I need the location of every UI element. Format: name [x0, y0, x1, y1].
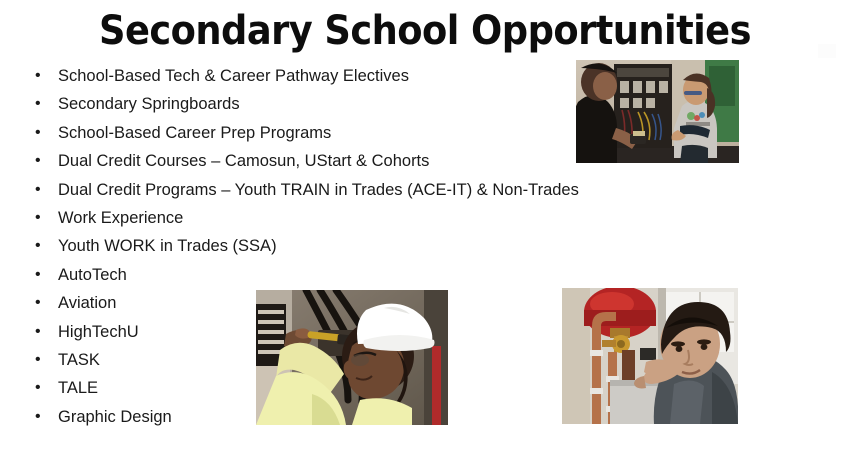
list-item-label: School-Based Career Prep Programs: [58, 119, 331, 147]
list-item: • School-Based Tech & Career Pathway Ele…: [30, 62, 610, 90]
photo-plumbing: [562, 288, 738, 424]
photo-electrician: [256, 290, 448, 425]
bullet-marker-icon: •: [35, 90, 41, 118]
list-item-label: Graphic Design: [58, 403, 172, 431]
bullet-marker-icon: •: [35, 147, 41, 175]
bullet-marker-icon: •: [35, 346, 41, 374]
list-item-label: Dual Credit Courses – Camosun, UStart & …: [58, 147, 429, 175]
list-item: • Secondary Springboards: [30, 90, 610, 118]
list-item: • Work Experience: [30, 204, 610, 232]
list-item: • Dual Credit Programs – Youth TRAIN in …: [30, 176, 610, 204]
list-item: • Dual Credit Courses – Camosun, UStart …: [30, 147, 610, 175]
list-item: • AutoTech: [30, 261, 610, 289]
bullet-marker-icon: •: [35, 261, 41, 289]
bullet-marker-icon: •: [35, 204, 41, 232]
list-item-label: Youth WORK in Trades (SSA): [58, 232, 277, 260]
list-item-label: Dual Credit Programs – Youth TRAIN in Tr…: [58, 176, 579, 204]
list-item-label: TALE: [58, 374, 98, 402]
page-title: Secondary School Opportunities: [34, 6, 816, 56]
bullet-marker-icon: •: [35, 318, 41, 346]
list-item-label: Aviation: [58, 289, 116, 317]
page-artifact: [818, 44, 836, 58]
list-item-label: School-Based Tech & Career Pathway Elect…: [58, 62, 409, 90]
list-item-label: AutoTech: [58, 261, 127, 289]
photo-electrical-lab: [576, 60, 739, 163]
presentation-slide: Secondary School Opportunities • School-…: [0, 0, 850, 450]
bullet-marker-icon: •: [35, 176, 41, 204]
list-item-label: Secondary Springboards: [58, 90, 240, 118]
list-item-label: Work Experience: [58, 204, 183, 232]
bullet-marker-icon: •: [35, 119, 41, 147]
list-item-label: TASK: [58, 346, 100, 374]
bullet-marker-icon: •: [35, 403, 41, 431]
bullet-marker-icon: •: [35, 289, 41, 317]
bullet-marker-icon: •: [35, 232, 41, 260]
list-item: • Youth WORK in Trades (SSA): [30, 232, 610, 260]
list-item-label: HighTechU: [58, 318, 139, 346]
list-item: • School-Based Career Prep Programs: [30, 119, 610, 147]
bullet-marker-icon: •: [35, 62, 41, 90]
bullet-marker-icon: •: [35, 374, 41, 402]
